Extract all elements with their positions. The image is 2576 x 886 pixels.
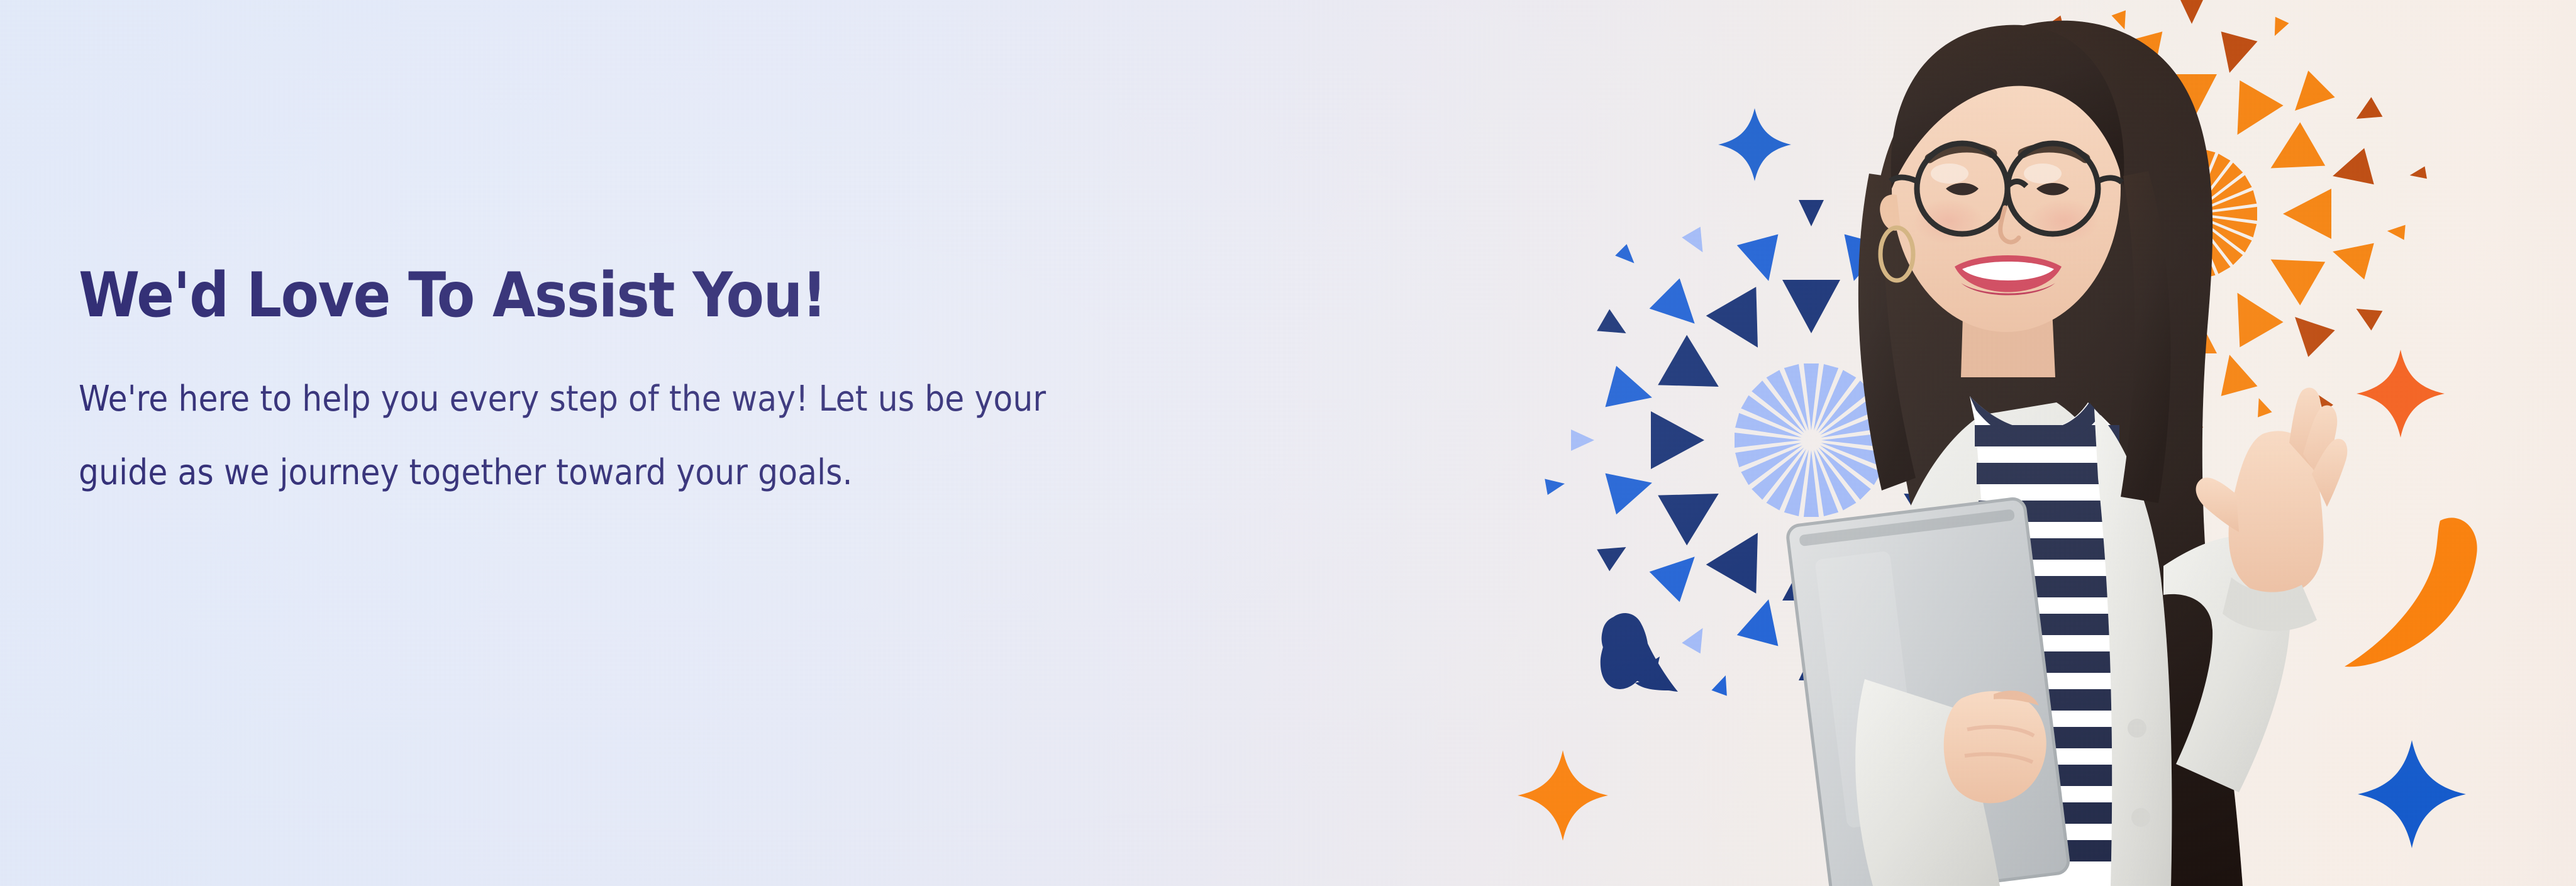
hero-copy: We'd Love To Assist You! We're here to h…	[79, 263, 1462, 509]
page-title: We'd Love To Assist You!	[79, 263, 1462, 328]
blue-sparkle-top-icon	[1718, 108, 1791, 181]
blue-sparkle-bottom-right-icon	[2358, 740, 2466, 848]
orange-sparkle-bottom-left-icon	[1518, 750, 1608, 841]
hero-banner: We'd Love To Assist You! We're here to h…	[0, 0, 2576, 886]
orange-comma-swoosh-icon	[2345, 518, 2477, 667]
hero-subtitle-line-2: guide as we journey together toward your…	[79, 436, 1399, 509]
navy-comma-swoosh-icon	[1601, 613, 1678, 692]
hero-subtitle-line-1: We're here to help you every step of the…	[79, 362, 1399, 436]
hero-subtitle: We're here to help you every step of the…	[79, 328, 1399, 509]
orange-sparkle-right-icon	[2357, 350, 2445, 438]
